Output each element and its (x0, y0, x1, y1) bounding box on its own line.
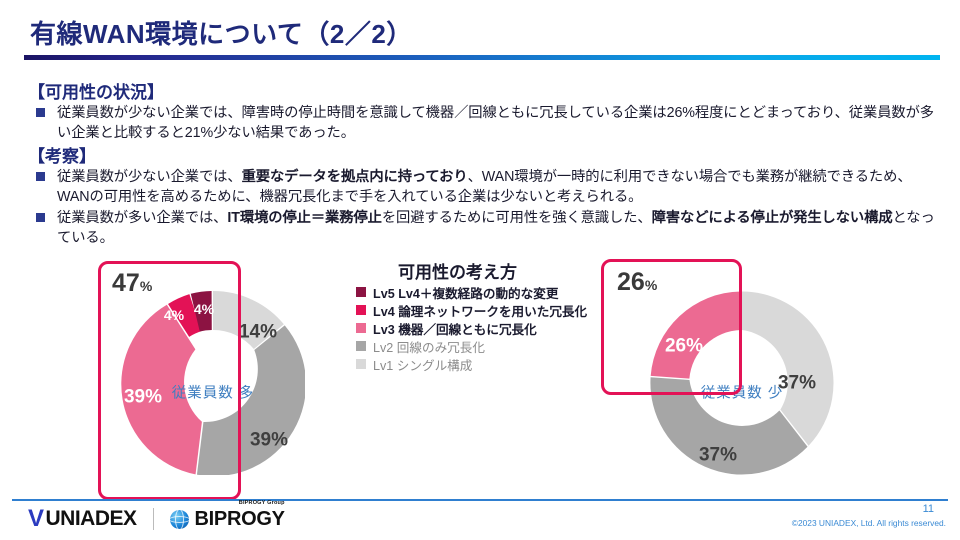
chart-legend: Lv5 Lv4＋複数経路の動的な変更 Lv4 論理ネットワークを用いた冗長化 L… (356, 283, 587, 373)
bullet-text: 従業員数が少ない企業では、障害時の停止時間を意識して機器／回線ともに冗長している… (57, 103, 936, 143)
bullet-item: 従業員数が少ない企業では、障害時の停止時間を意識して機器／回線ともに冗長している… (36, 103, 936, 143)
slice-value-lv2: 37% (699, 446, 737, 465)
biprogy-logo-text: BIPROGY (195, 508, 285, 531)
legend-item-lv5: Lv5 Lv4＋複数経路の動的な変更 (356, 283, 587, 301)
logo-separator (153, 508, 154, 530)
slice-value-lv3: 39% (124, 388, 162, 407)
biprogy-logo: BIPROGY Group BIPROGY (170, 508, 285, 531)
donut-chart-many-employees: 従業員数 多 14% 39% 39% 4% 4% (121, 291, 305, 475)
donut-center-label: 従業員数 少 (701, 382, 784, 403)
bullet-text: 従業員数が多い企業では、IT環境の停止＝業務停止を回避するために可用性を強く意識… (57, 208, 936, 248)
copyright-notice: ©2023 UNIADEX, Ltd. All rights reserved. (792, 518, 946, 528)
chart-title: 可用性の考え方 (398, 258, 517, 283)
legend-label: Lv2 回線のみ冗長化 (373, 337, 485, 356)
footer-divider (12, 499, 948, 501)
legend-swatch-icon (356, 359, 366, 369)
legend-label: Lv3 機器／回線ともに冗長化 (373, 319, 537, 338)
bullet-item: 従業員数が多い企業では、IT環境の停止＝業務停止を回避するために可用性を強く意識… (36, 208, 936, 248)
callout-value-few-employees: 26% (617, 270, 657, 295)
slice-value-lv3: 26% (665, 337, 703, 356)
donut-center-label: 従業員数 多 (172, 382, 255, 403)
uniadex-v-icon: V (28, 507, 44, 531)
legend-item-lv3: Lv3 機器／回線ともに冗長化 (356, 319, 587, 337)
page-number: 11 (923, 503, 934, 515)
slice-value-lv4: 4% (164, 308, 184, 324)
section-heading-availability-status: 【可用性の状況】 (28, 78, 164, 103)
legend-swatch-icon (356, 305, 366, 315)
footer-logos: V UNIADEX BIPROGY Group BIPROGY (28, 506, 285, 532)
section-heading-consideration: 【考察】 (28, 142, 96, 167)
bullet-marker-icon (36, 108, 45, 117)
legend-item-lv1: Lv1 シングル構成 (356, 355, 587, 373)
legend-label: Lv1 シングル構成 (373, 355, 472, 374)
legend-swatch-icon (356, 323, 366, 333)
bullet-marker-icon (36, 213, 45, 222)
charts-container: 可用性の考え方 Lv5 Lv4＋複数経路の動的な変更 Lv4 論理ネットワークを… (0, 250, 960, 500)
bullet-item: 従業員数が少ない企業では、重要なデータを拠点内に持っており、WAN環境が一時的に… (36, 167, 936, 207)
donut-chart-few-employees: 従業員数 少 37% 37% 26% (650, 291, 834, 475)
legend-label: Lv4 論理ネットワークを用いた冗長化 (373, 301, 587, 320)
slice-value-lv2: 39% (250, 431, 288, 450)
slice-value-lv1: 37% (778, 374, 816, 393)
legend-swatch-icon (356, 341, 366, 351)
bullet-text: 従業員数が少ない企業では、重要なデータを拠点内に持っており、WAN環境が一時的に… (57, 167, 936, 207)
callout-value-many-employees: 47% (112, 271, 152, 296)
legend-swatch-icon (356, 287, 366, 297)
uniadex-logo-text: UNIADEX (46, 507, 137, 531)
slice-value-lv1: 14% (239, 323, 277, 342)
biprogy-group-tag: BIPROGY Group (239, 500, 285, 506)
legend-item-lv4: Lv4 論理ネットワークを用いた冗長化 (356, 301, 587, 319)
slice-value-lv5: 4% (194, 302, 214, 318)
bullet-marker-icon (36, 172, 45, 181)
uniadex-logo: V UNIADEX (28, 507, 137, 531)
header-divider (24, 55, 940, 60)
legend-label: Lv5 Lv4＋複数経路の動的な変更 (373, 283, 558, 302)
page-title: 有線WAN環境について（2／2） (30, 14, 413, 51)
legend-item-lv2: Lv2 回線のみ冗長化 (356, 337, 587, 355)
globe-icon (170, 510, 189, 529)
